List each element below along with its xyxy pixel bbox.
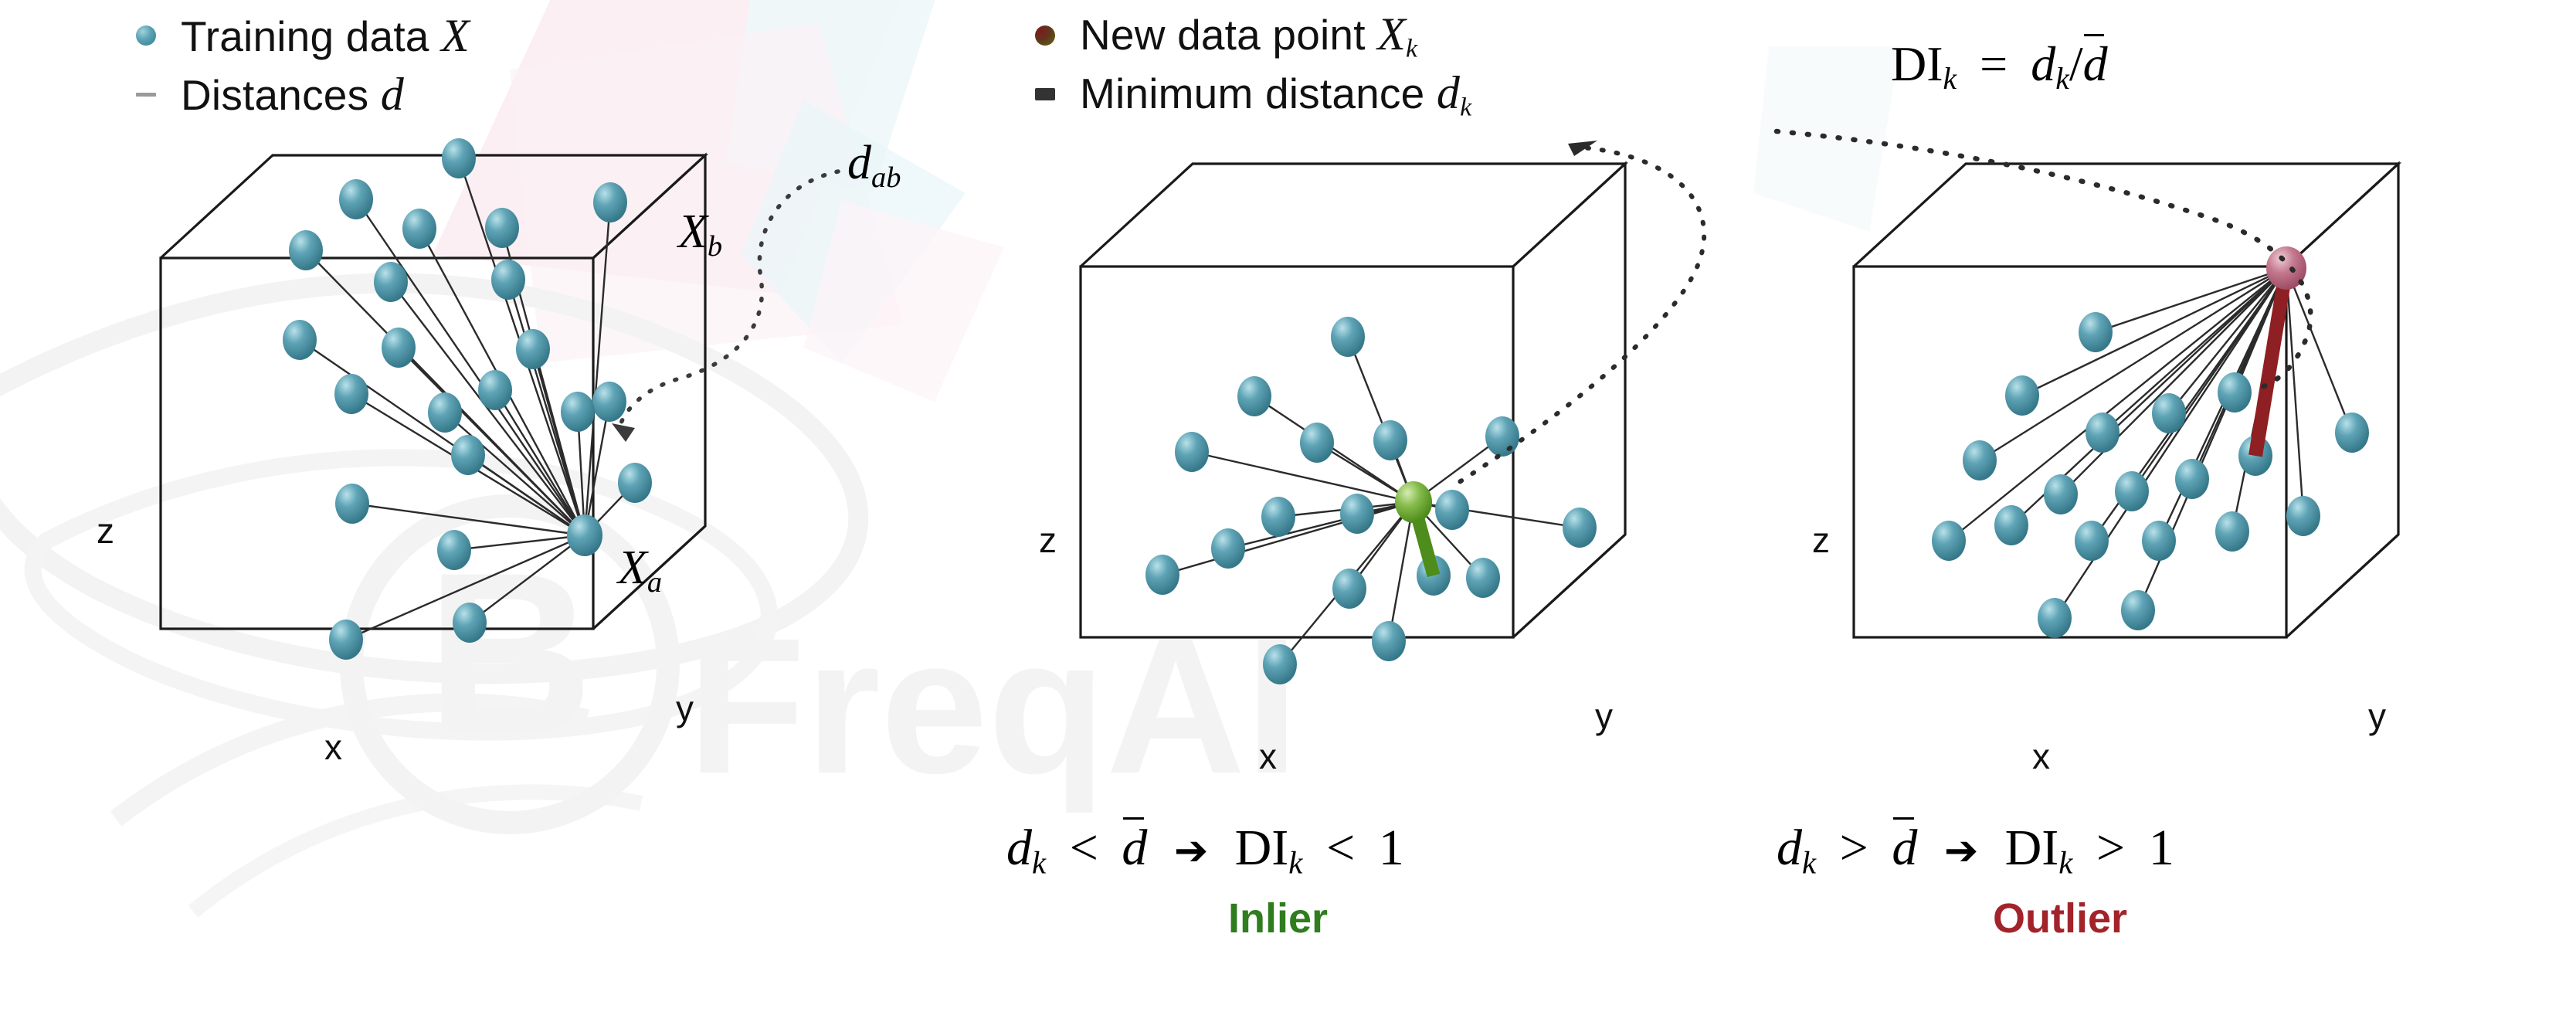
training-points-panel-3 bbox=[1932, 312, 2369, 638]
outlier-equation: dk > d ➔ DIk > 1 bbox=[1777, 819, 2174, 881]
panel-outlier bbox=[0, 0, 2576, 1022]
cube-wireframe-outlier bbox=[1854, 164, 2398, 637]
diagram-canvas: B FreqAI Training data X Distances d bbox=[0, 0, 2576, 1022]
axis-label-z-panel-3: z bbox=[1812, 519, 1830, 561]
min-distance-segment-outlier bbox=[2255, 268, 2286, 456]
axis-label-x-panel-3: x bbox=[2032, 735, 2050, 777]
caption-outlier: Outlier bbox=[1993, 895, 2127, 942]
distance-lines-outlier bbox=[1949, 268, 2352, 618]
axis-label-y-panel-3: y bbox=[2368, 695, 2386, 737]
